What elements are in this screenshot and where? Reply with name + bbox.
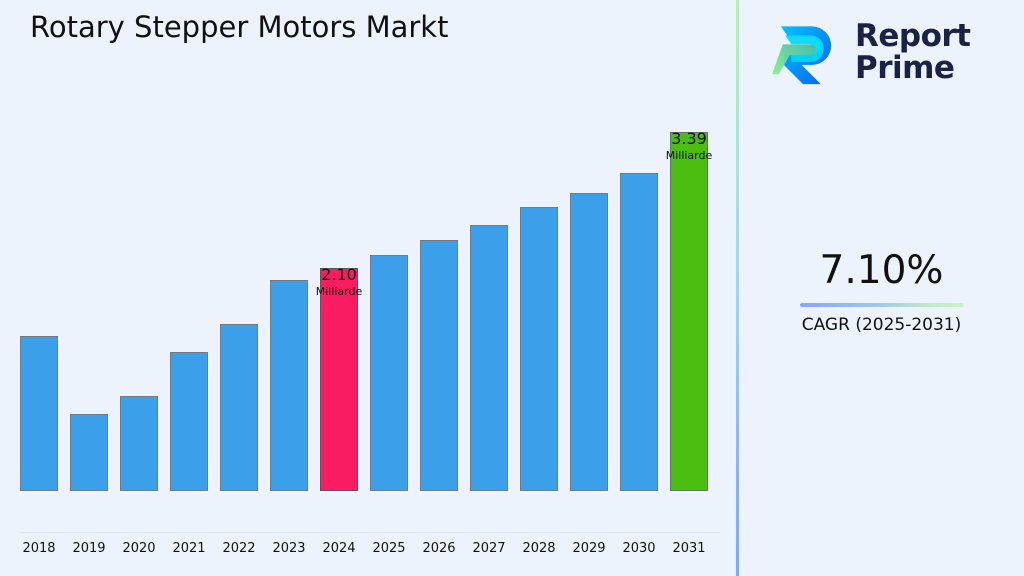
bar-2021 [170, 352, 208, 491]
bar-2029 [570, 193, 608, 491]
bar-2025 [370, 255, 408, 491]
side-panel: Report Prime 7.10% CAGR (2025-2031) [739, 0, 1024, 576]
bar-chart-plot-area: 2018201920202021202220232.10Milliarde202… [0, 0, 737, 534]
x-axis-tick-2031: 2031 [659, 541, 719, 556]
cagr-label: CAGR (2025-2031) [739, 315, 1024, 335]
brand-wordmark-line2: Prime [855, 53, 971, 85]
bar-2022 [220, 324, 258, 491]
brand-wordmark-line1: Report [855, 21, 971, 53]
chart-panel: Rotary Stepper Motors Markt 201820192020… [0, 0, 737, 576]
bar-2031 [670, 132, 708, 491]
x-axis-line [20, 532, 720, 533]
bar-2023 [270, 280, 308, 491]
bar-2027 [470, 225, 508, 491]
brand-wordmark: Report Prime [855, 21, 971, 84]
bar-2030 [620, 173, 658, 491]
bar-2024 [320, 268, 358, 491]
brand-logo: Report Prime [769, 10, 1009, 96]
infographic-root: Rotary Stepper Motors Markt 201820192020… [0, 0, 1024, 576]
bar-2018 [20, 336, 58, 491]
bar-2026 [420, 240, 458, 491]
cagr-divider-rule [800, 303, 964, 307]
bar-2028 [520, 207, 558, 491]
bar-2020 [120, 396, 158, 491]
cagr-value: 7.10% [739, 250, 1024, 293]
cagr-block: 7.10% CAGR (2025-2031) [739, 250, 1024, 335]
report-prime-logo-mark-icon [769, 16, 843, 90]
bar-2019 [70, 414, 108, 491]
